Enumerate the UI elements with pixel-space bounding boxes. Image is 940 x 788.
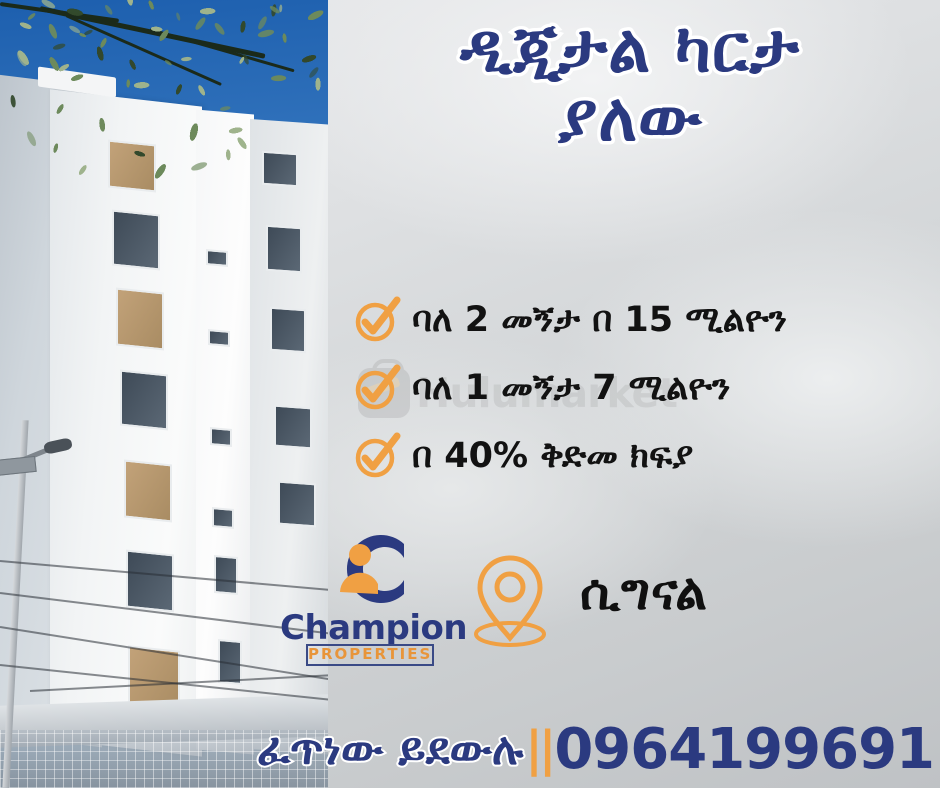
flyer-canvas: ዲጂታል ካርታ ያለው Hulumarket ባለ 2 መኝታ በ 15 ሚል… <box>0 0 940 788</box>
features-list: ባለ 2 መኝታ በ 15 ሚልዮን ባለ 1 መኝታ 7 ሚልዮን በ 40%… <box>352 286 912 490</box>
window <box>112 209 160 270</box>
logo-subtitle-frame: PROPERTIES <box>306 644 434 666</box>
contact-bar[interactable]: ፈጥነው ይደውሉ || 0964199691 <box>0 718 940 780</box>
window <box>266 225 302 274</box>
feature-item: ባለ 1 መኝታ 7 ሚልዮን <box>352 354 912 422</box>
window-small <box>214 555 238 595</box>
champion-c-person-icon <box>316 528 420 610</box>
feature-text: ባለ 1 መኝታ 7 ሚልዮን <box>412 368 730 408</box>
check-circle-icon <box>352 431 402 481</box>
window <box>116 287 164 350</box>
location-name: ሲግናል <box>580 563 708 622</box>
window-small <box>210 427 232 447</box>
logo-brand-name: Champion <box>280 608 456 648</box>
feature-item: በ 40% ቅድመ ክፍያ <box>352 422 912 490</box>
window <box>124 459 172 522</box>
headline-line-2: ያለው <box>330 83 930 152</box>
map-pin-icon <box>462 546 558 652</box>
contact-separator: || <box>525 721 552 777</box>
headline-line-1: ዲጂታል ካርታ <box>460 10 800 87</box>
window <box>270 307 306 354</box>
feature-text: በ 40% ቅድመ ክፍያ <box>412 436 693 476</box>
call-now-label: ፈጥነው ይደውሉ <box>257 724 523 775</box>
window <box>262 151 298 188</box>
property-photo <box>0 0 328 788</box>
phone-number[interactable]: 0964199691 <box>554 717 934 782</box>
window <box>126 549 174 612</box>
feature-text: ባለ 2 መኝታ በ 15 ሚልዮን <box>412 300 787 340</box>
window <box>108 139 156 192</box>
window-small <box>206 249 228 267</box>
champion-properties-logo: Champion PROPERTIES <box>288 528 448 660</box>
window <box>120 369 168 430</box>
window-small <box>208 329 230 347</box>
window <box>278 481 316 528</box>
logo-subtitle: PROPERTIES <box>308 645 432 663</box>
headline: ዲጂታል ካርታ ያለው <box>330 14 930 153</box>
check-circle-icon <box>352 363 402 413</box>
check-circle-icon <box>352 295 402 345</box>
window <box>274 405 312 450</box>
feature-item: ባለ 2 መኝታ በ 15 ሚልዮን <box>352 286 912 354</box>
window-small <box>212 507 234 529</box>
